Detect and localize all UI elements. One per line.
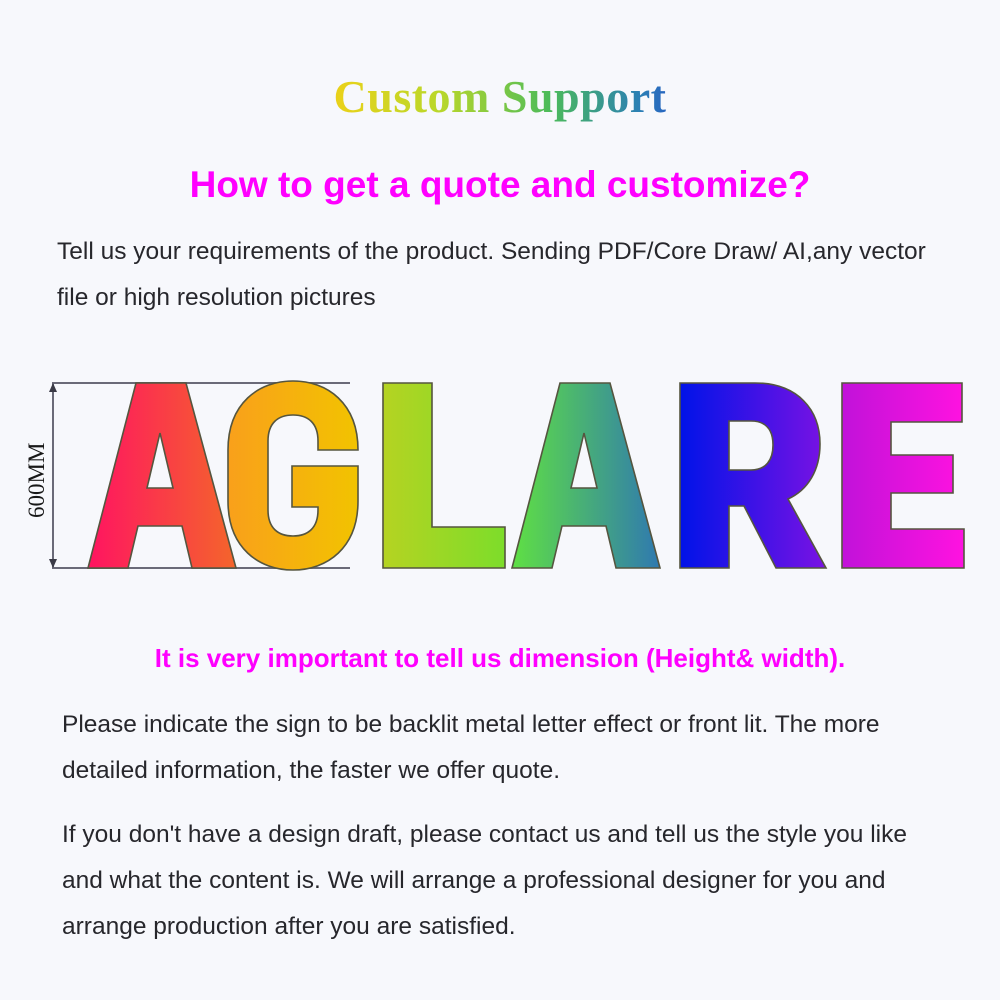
letter-A-1 — [88, 383, 236, 568]
section-subtitle: How to get a quote and customize? — [0, 162, 1000, 208]
paragraph-design-draft: If you don't have a design draft, please… — [62, 812, 952, 950]
letter-A-4 — [512, 383, 660, 568]
letter-R-5 — [680, 383, 826, 568]
letter-E-6 — [842, 383, 964, 568]
paragraph-lighting: Please indicate the sign to be backlit m… — [62, 702, 952, 794]
letter-group — [88, 381, 964, 570]
dimension-label-600mm: 600MM — [22, 420, 52, 540]
page-root: Custom Support How to get a quote and cu… — [0, 0, 1000, 1000]
letter-L-3 — [383, 383, 505, 568]
page-title: Custom Support — [0, 68, 1000, 126]
letter-G-2 — [228, 381, 358, 570]
paragraph-requirements: Tell us your requirements of the product… — [57, 229, 957, 321]
logo-artwork — [0, 360, 1000, 585]
dimension-reminder-note: It is very important to tell us dimensio… — [0, 641, 1000, 675]
aglare-letters-svg — [0, 360, 1000, 585]
